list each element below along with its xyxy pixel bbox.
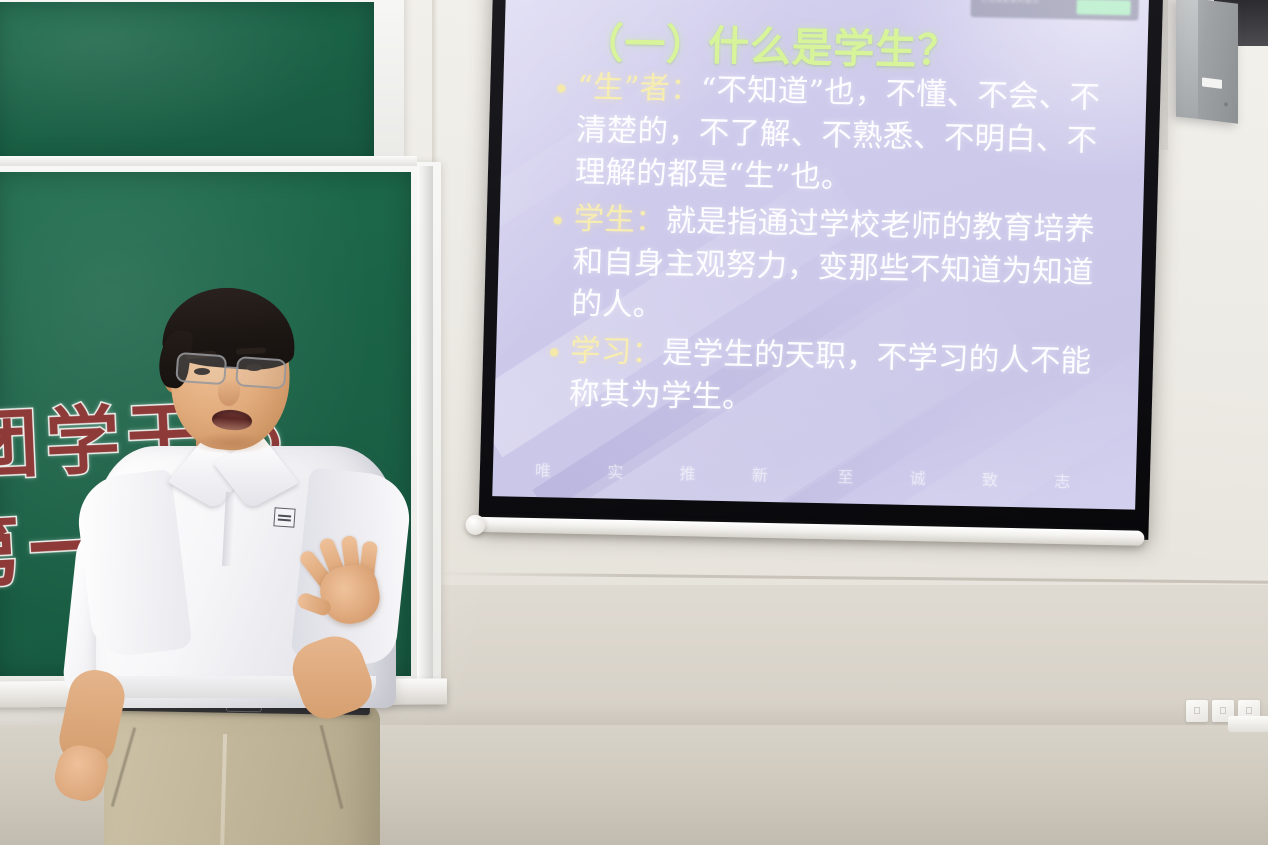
power-outlet[interactable] (1186, 700, 1208, 722)
speaker-label (1202, 77, 1222, 88)
lens-right (235, 356, 287, 389)
slide-title: （一）什么是学生？ (582, 9, 960, 77)
slide-bullet-item: 学生：就是指通过学校老师的教育培养和自身主观努力，变那些不知道为知道的人。 (519, 198, 1125, 339)
toast-action-button[interactable] (1076, 0, 1130, 15)
slide-bullet-item: 学习：是学生的天职，不学习的人不能称其为学生。 (516, 330, 1121, 428)
trousers (104, 704, 380, 845)
blackboard-upper-surface (0, 2, 374, 164)
speaker-screw (1224, 102, 1228, 106)
watermark-left: 唯 实 推 新 (535, 457, 794, 486)
bullet-lead: “生”者： (577, 70, 701, 108)
bullet-lead: 学习： (570, 334, 663, 371)
chin-shadow (188, 432, 274, 454)
slide-bullet-item: “生”者：“不知道”也，不懂、不会、不清楚的，不了解、不熟悉、不明白、不理解的都… (522, 66, 1128, 207)
slide-watermark: 唯 实 推 新 至 诚 致 志 (535, 457, 1097, 493)
toast-subtitle: 已完成更新的提示 (981, 0, 1040, 6)
projection-screen: （一）什么是学生？ “生”者：“不知道”也，不懂、不会、不清楚的，不了解、不熟悉… (478, 0, 1163, 540)
lens-left (175, 352, 227, 385)
slide-content: （一）什么是学生？ “生”者：“不知道”也，不懂、不会、不清楚的，不了解、不熟悉… (492, 0, 1149, 510)
screen-surface: （一）什么是学生？ “生”者：“不知道”也，不懂、不会、不清楚的，不了解、不熟悉… (492, 0, 1149, 510)
bullet-dot-icon (557, 84, 565, 92)
bullet-text: 学习：是学生的天职，不学习的人不能称其为学生。 (568, 331, 1121, 428)
update-notification-toast[interactable]: 有 3 个文件正在更新 已完成更新的提示 (970, 0, 1139, 21)
blackboard-side-rail (417, 166, 433, 698)
bullet-text: 学生：就是指通过学校老师的教育培养和自身主观努力，变那些不知道为知道的人。 (571, 199, 1125, 339)
bullet-text: “生”者：“不知道”也，不懂、不会、不清楚的，不了解、不熟悉、不明白、不理解的都… (574, 67, 1128, 207)
bullet-dot-icon (554, 216, 562, 224)
glasses-bridge (226, 366, 238, 369)
watermark-right: 至 诚 致 志 (837, 463, 1096, 492)
classroom-scene: 团学干部 第一讲 （一）什么是学生？ “生”者：“不知道”也，不懂、不会、不清楚… (0, 0, 1268, 845)
speaker-face (1176, 0, 1198, 119)
right-hand-gesture (295, 526, 398, 634)
shirt-logo-patch (273, 507, 295, 527)
cable-conduit (1228, 716, 1268, 732)
blackboard-upper-frame (0, 0, 404, 172)
blackboard-divider (0, 156, 417, 166)
wall-speaker (1176, 0, 1238, 124)
bullet-lead: 学生： (573, 202, 666, 239)
slide-bullet-list: “生”者：“不知道”也，不懂、不会、不清楚的，不了解、不熟悉、不明白、不理解的都… (516, 66, 1128, 432)
lecturer (78, 286, 418, 845)
bullet-dot-icon (550, 348, 558, 356)
